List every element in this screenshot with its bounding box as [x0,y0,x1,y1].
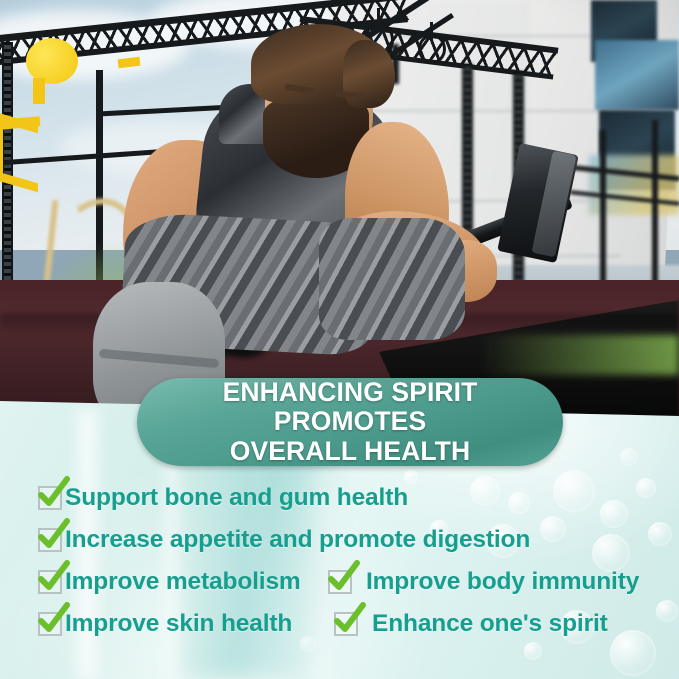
banner-title-line2: OVERALL HEALTH [230,436,470,466]
banner-title-text: ENHANCING SPIRIT PROMOTES OVERALL HEALTH [137,378,563,467]
benefits-checklist: Support bone and gum health Increase app… [0,478,679,648]
benefit-label: Support bone and gum health [65,484,408,512]
banner-title-line1: ENHANCING SPIRIT PROMOTES [223,377,478,437]
benefit-item[interactable]: Enhance one's spirit [334,610,608,638]
benefit-label: Improve body immunity [366,568,639,596]
benefit-item[interactable]: Improve metabolism [38,568,301,596]
checkmark-icon [36,602,70,636]
benefit-row: Enhance one's spirit [334,610,608,638]
banner-title-pill: ENHANCING SPIRIT PROMOTES OVERALL HEALTH [137,378,563,466]
benefit-row: Increase appetite and promote digestion [38,526,530,554]
checkbox-icon[interactable] [38,486,62,510]
benefit-item[interactable]: Increase appetite and promote digestion [38,526,530,554]
checkbox-icon[interactable] [38,612,62,636]
benefit-row: Improve body immunity [328,568,639,596]
benefit-item[interactable]: Support bone and gum health [38,484,408,512]
benefit-item[interactable]: Improve body immunity [328,568,639,596]
benefit-row: Improve metabolism [38,568,301,596]
bubble [620,448,638,466]
checkmark-icon [326,560,360,594]
checkmark-icon [36,560,70,594]
checkbox-icon[interactable] [334,612,358,636]
benefit-label: Enhance one's spirit [372,610,608,638]
product-infographic-card: ENHANCING SPIRIT PROMOTES OVERALL HEALTH… [0,0,679,679]
checkmark-icon [36,476,70,510]
benefit-row: Support bone and gum health [38,484,408,512]
benefit-row: Improve skin health [38,610,292,638]
benefit-label: Improve metabolism [65,568,301,596]
checkmark-icon [36,518,70,552]
benefit-label: Improve skin health [65,610,292,638]
checkbox-icon[interactable] [328,570,352,594]
hero-photo [0,0,679,430]
photo-vignette [0,0,679,430]
benefit-item[interactable]: Improve skin health [38,610,292,638]
checkbox-icon[interactable] [38,570,62,594]
checkbox-icon[interactable] [38,528,62,552]
benefit-label: Increase appetite and promote digestion [65,526,530,554]
checkmark-icon [332,602,366,636]
